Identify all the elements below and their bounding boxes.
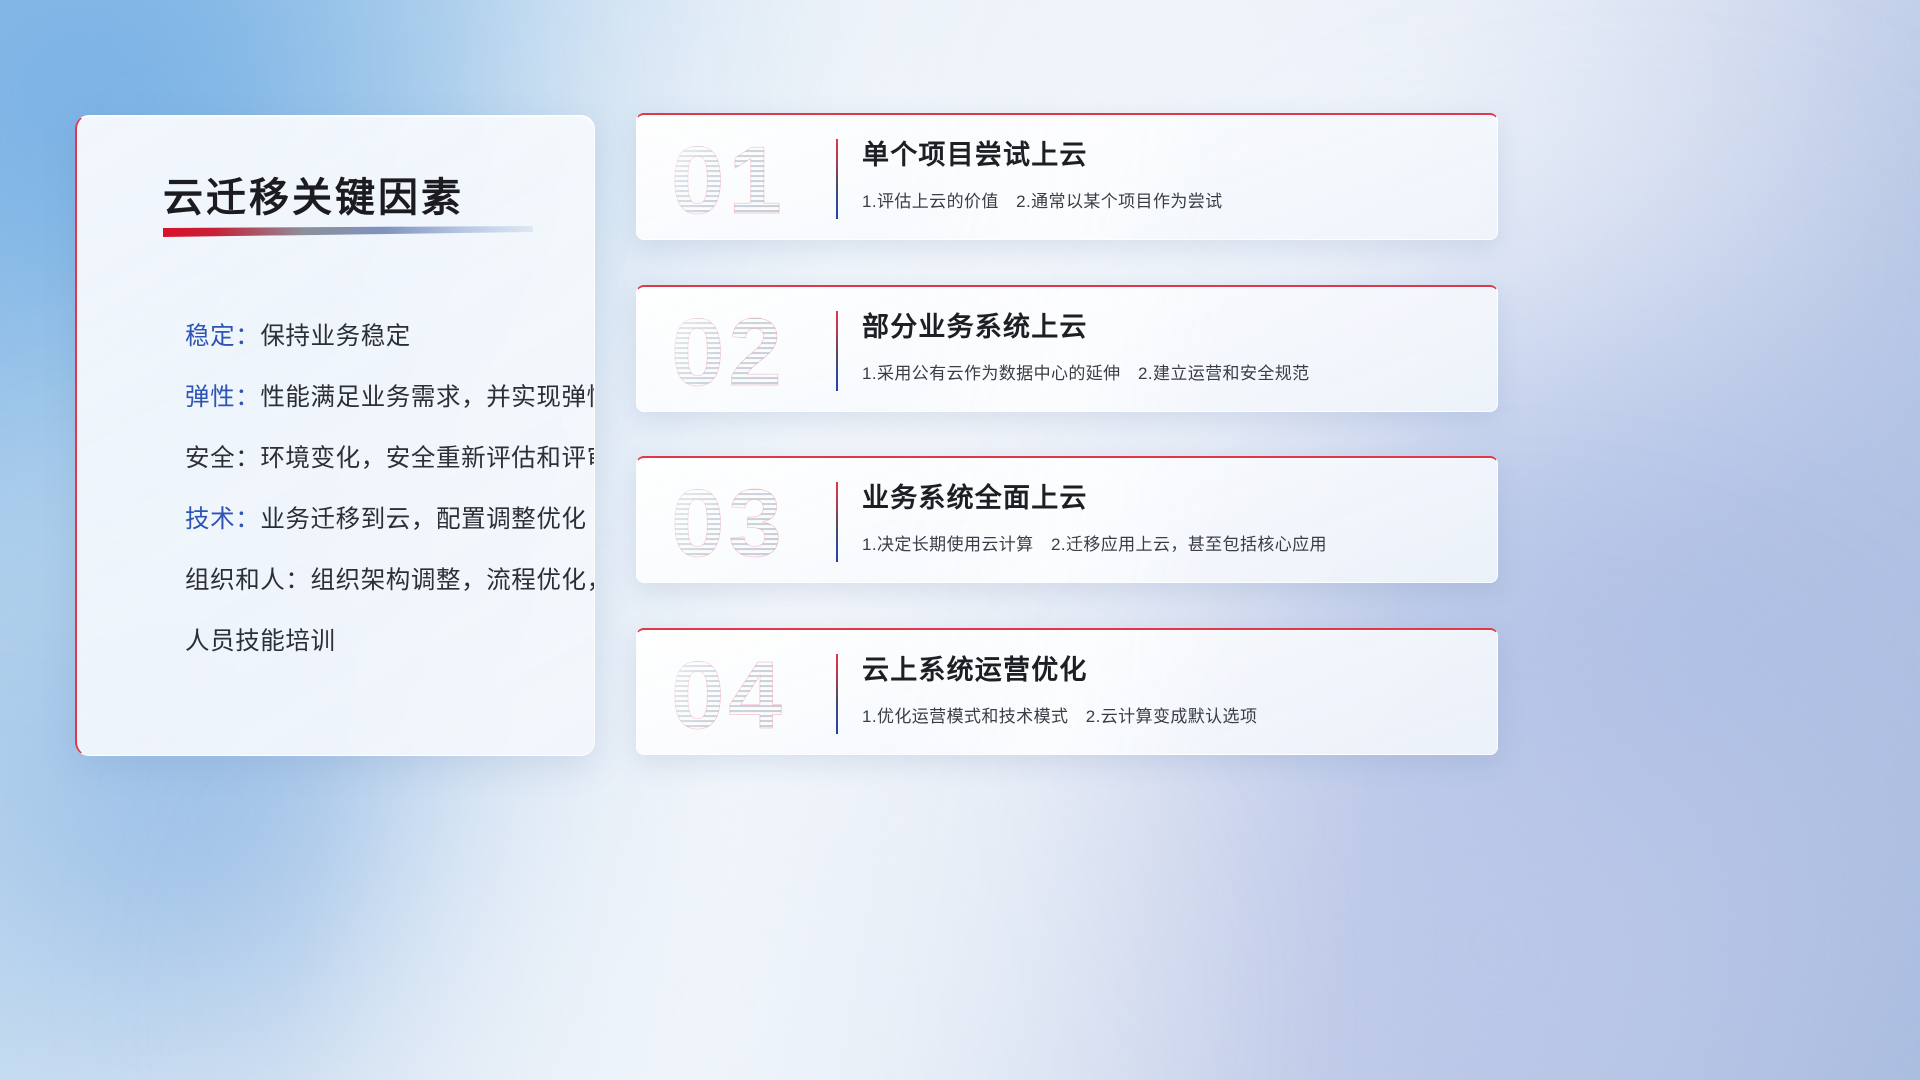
factor-label: 稳定： [185,323,260,350]
factor-text: 组织架构调整，流程优化， [311,567,596,594]
step-divider-line [836,311,838,391]
step-title: 业务系统全面上云 [862,478,1479,518]
svg-text:03: 03 [671,470,786,577]
factor-row: 组织和人：组织架构调整，流程优化， [107,550,576,611]
step-title: 云上系统运营优化 [862,650,1479,690]
factor-row: 稳定：保持业务稳定 [107,306,576,367]
svg-text:02: 02 [671,299,786,406]
factor-text: 性能满足业务需求，并实现弹性 [260,384,595,411]
step-description: 1.评估上云的价值 2.通常以某个项目作为尝试 [862,187,1479,212]
step-divider-line [836,654,838,734]
key-factors-panel: 云迁移关键因素 稳定：保持业务稳定 [75,115,595,756]
step-number-01: 01 01 [665,125,825,235]
slide-stage: 云迁移关键因素 稳定：保持业务稳定 [0,0,1920,1080]
factor-row: 安全：环境变化，安全重新评估和评审 [107,428,576,489]
factor-text: 业务迁移到云，配置调整优化 [260,506,586,533]
factor-text: 保持业务稳定 [260,323,411,350]
step-description: 1.采用公有云作为数据中心的延伸 2.建立运营和安全规范 [862,359,1479,384]
factor-label: 组织和人： [185,567,311,594]
step-card-02[interactable]: 02 02 部分业务系统上云 1.采用公有云作为数据中心的延伸 2.建立运营和安… [636,285,1498,412]
key-factors-list: 稳定：保持业务稳定 弹性：性能满足业务需求，并实现弹性 安全：环境变化，安全重新… [107,306,576,672]
factor-row-continuation: 人员技能培训 [107,611,576,672]
step-body: 单个项目尝试上云 1.评估上云的价值 2.通常以某个项目作为尝试 [862,135,1479,212]
factor-label: 安全： [185,445,260,472]
step-card-04[interactable]: 04 04 云上系统运营优化 1.优化运营模式和技术模式 2.云计算变成默认选项 [636,628,1498,755]
step-number-03: 03 03 [665,468,825,578]
svg-text:01: 01 [671,127,786,234]
step-card-03[interactable]: 03 03 业务系统全面上云 1.决定长期使用云计算 2.迁移应用上云，甚至包括… [636,456,1498,583]
factor-label: 技术： [185,506,260,533]
step-body: 云上系统运营优化 1.优化运营模式和技术模式 2.云计算变成默认选项 [862,650,1479,727]
step-card-01[interactable]: 01 01 单个项目尝试上云 1.评估上云的价值 2.通常以某个项目作为尝试 [636,113,1498,240]
step-divider-line [836,139,838,219]
step-number-04: 04 04 [665,640,825,750]
page-title: 云迁移关键因素 [163,165,464,223]
step-body: 业务系统全面上云 1.决定长期使用云计算 2.迁移应用上云，甚至包括核心应用 [862,478,1479,555]
title-underline-rule [163,226,533,237]
step-title: 单个项目尝试上云 [862,135,1479,175]
factor-label: 弹性： [185,384,260,411]
step-title: 部分业务系统上云 [862,307,1479,347]
factor-text: 人员技能培训 [185,628,336,655]
step-description: 1.优化运营模式和技术模式 2.云计算变成默认选项 [862,702,1479,727]
factor-text: 环境变化，安全重新评估和评审 [260,445,595,472]
step-body: 部分业务系统上云 1.采用公有云作为数据中心的延伸 2.建立运营和安全规范 [862,307,1479,384]
factor-row: 弹性：性能满足业务需求，并实现弹性 [107,367,576,428]
step-description: 1.决定长期使用云计算 2.迁移应用上云，甚至包括核心应用 [862,530,1479,555]
step-number-02: 02 02 [665,297,825,407]
factor-row: 技术：业务迁移到云，配置调整优化 [107,489,576,550]
svg-text:04: 04 [671,642,786,749]
step-divider-line [836,482,838,562]
